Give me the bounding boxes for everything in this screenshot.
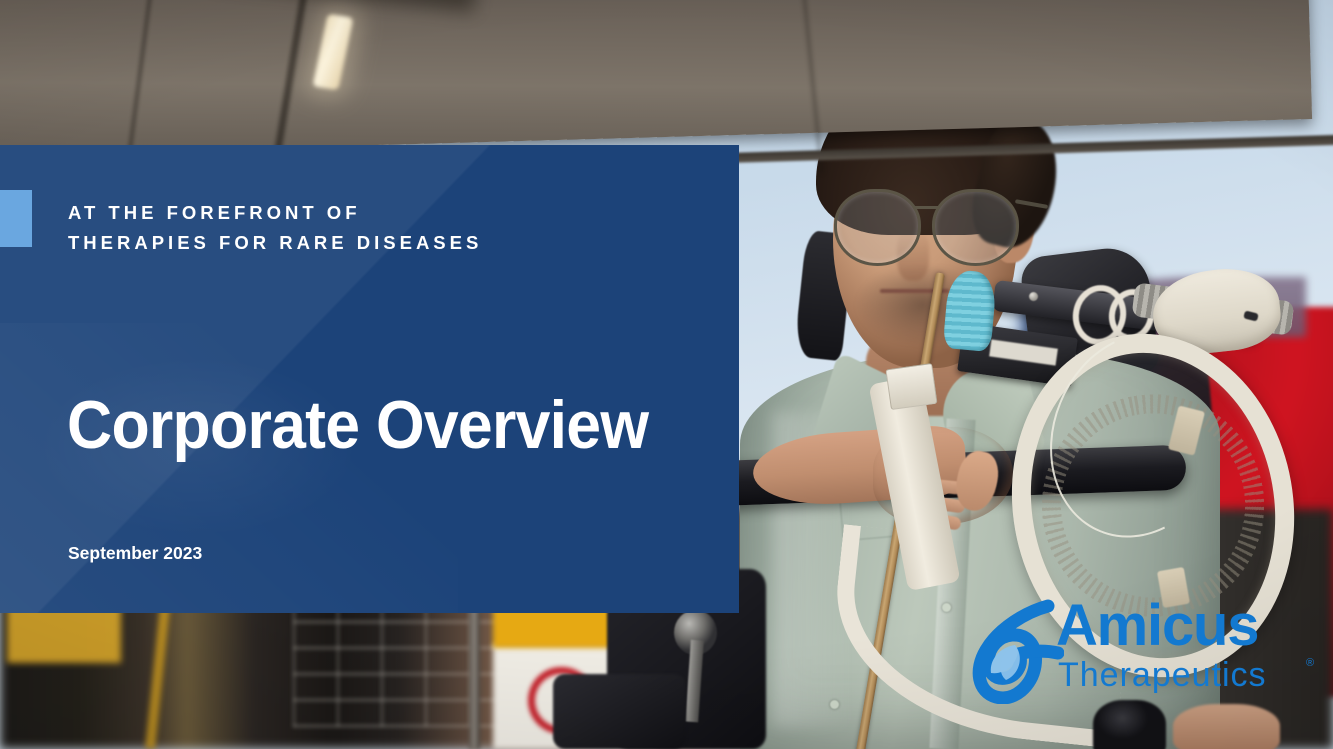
wheelchair-joystick xyxy=(1093,700,1166,749)
eyebrow-line-1: AT THE FOREFRONT OF xyxy=(68,202,361,223)
wheelchair-lower-frame xyxy=(553,674,686,749)
slide-date: September 2023 xyxy=(68,543,202,564)
eyebrow-line-2: THERAPIES FOR RARE DISEASES xyxy=(68,228,628,258)
amicus-a-leaf-mark-icon xyxy=(952,598,1064,704)
logo-descriptor: Therapeutics xyxy=(1058,658,1267,692)
panel-lower-sheen xyxy=(0,323,458,613)
page-title: Corporate Overview xyxy=(67,391,648,459)
registered-trademark-icon: ® xyxy=(1306,658,1314,669)
title-panel: AT THE FOREFRONT OF THERAPIES FOR RARE D… xyxy=(0,145,739,613)
amicus-wordmark: Amicus Therapeutics ® xyxy=(1056,596,1324,706)
accent-square xyxy=(0,190,32,247)
glasses-bridge xyxy=(913,206,940,209)
lens-right xyxy=(932,189,1019,266)
logo-company-name: Amicus xyxy=(1056,597,1258,655)
canopy-shadow xyxy=(203,0,480,12)
eyeglasses xyxy=(830,189,1022,260)
hose-connector xyxy=(885,362,938,409)
eyebrow-tagline: AT THE FOREFRONT OF THERAPIES FOR RARE D… xyxy=(68,198,628,258)
amicus-therapeutics-logo: Amicus Therapeutics ® xyxy=(952,596,1324,706)
presentation-slide: AT THE FOREFRONT OF THERAPIES FOR RARE D… xyxy=(0,0,1333,749)
hand-on-joystick xyxy=(1173,704,1280,749)
lens-left xyxy=(834,189,921,266)
